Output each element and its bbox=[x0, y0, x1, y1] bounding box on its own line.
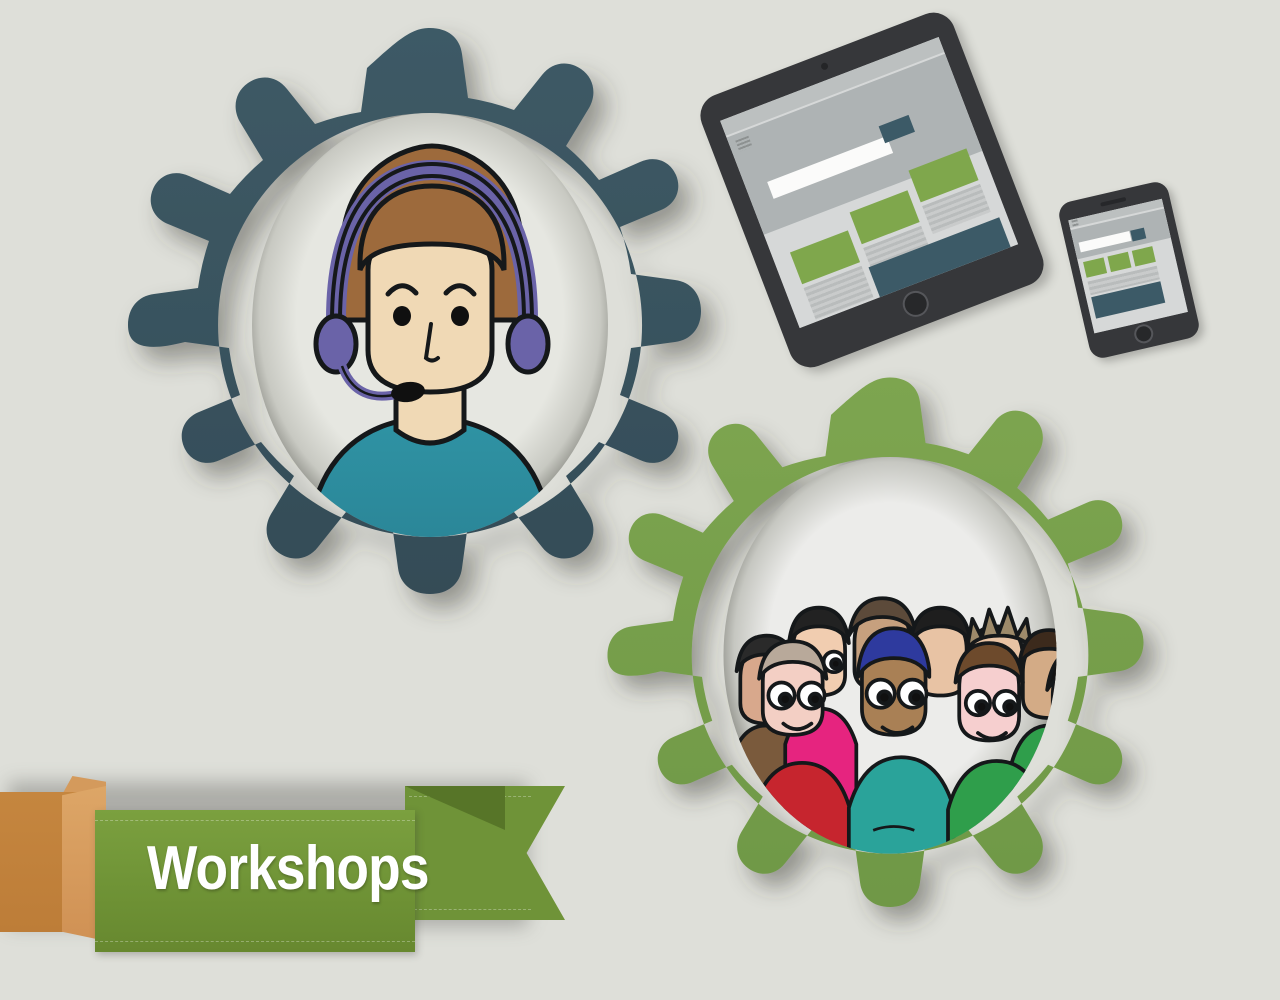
ribbon-stitch-bottom bbox=[95, 941, 415, 942]
child-front-bald bbox=[1120, 688, 1217, 927]
ribbon-main-band[interactable]: Workshops bbox=[95, 810, 415, 952]
children-illustration bbox=[731, 598, 1217, 946]
workshop-participants-gear[interactable] bbox=[600, 370, 1180, 950]
ribbon-stitch-bottom bbox=[409, 909, 531, 910]
gear-children-svg bbox=[600, 370, 1180, 950]
ribbon-stitch-top bbox=[95, 820, 415, 821]
ribbon-banner[interactable]: Workshops bbox=[0, 768, 600, 958]
page-title: Workshops bbox=[147, 838, 405, 900]
child-pink-shirt bbox=[1032, 647, 1142, 924]
tablet-device[interactable] bbox=[694, 6, 1050, 373]
illustration-canvas: Workshops bbox=[0, 0, 1280, 1000]
phone-device[interactable] bbox=[1056, 179, 1201, 360]
